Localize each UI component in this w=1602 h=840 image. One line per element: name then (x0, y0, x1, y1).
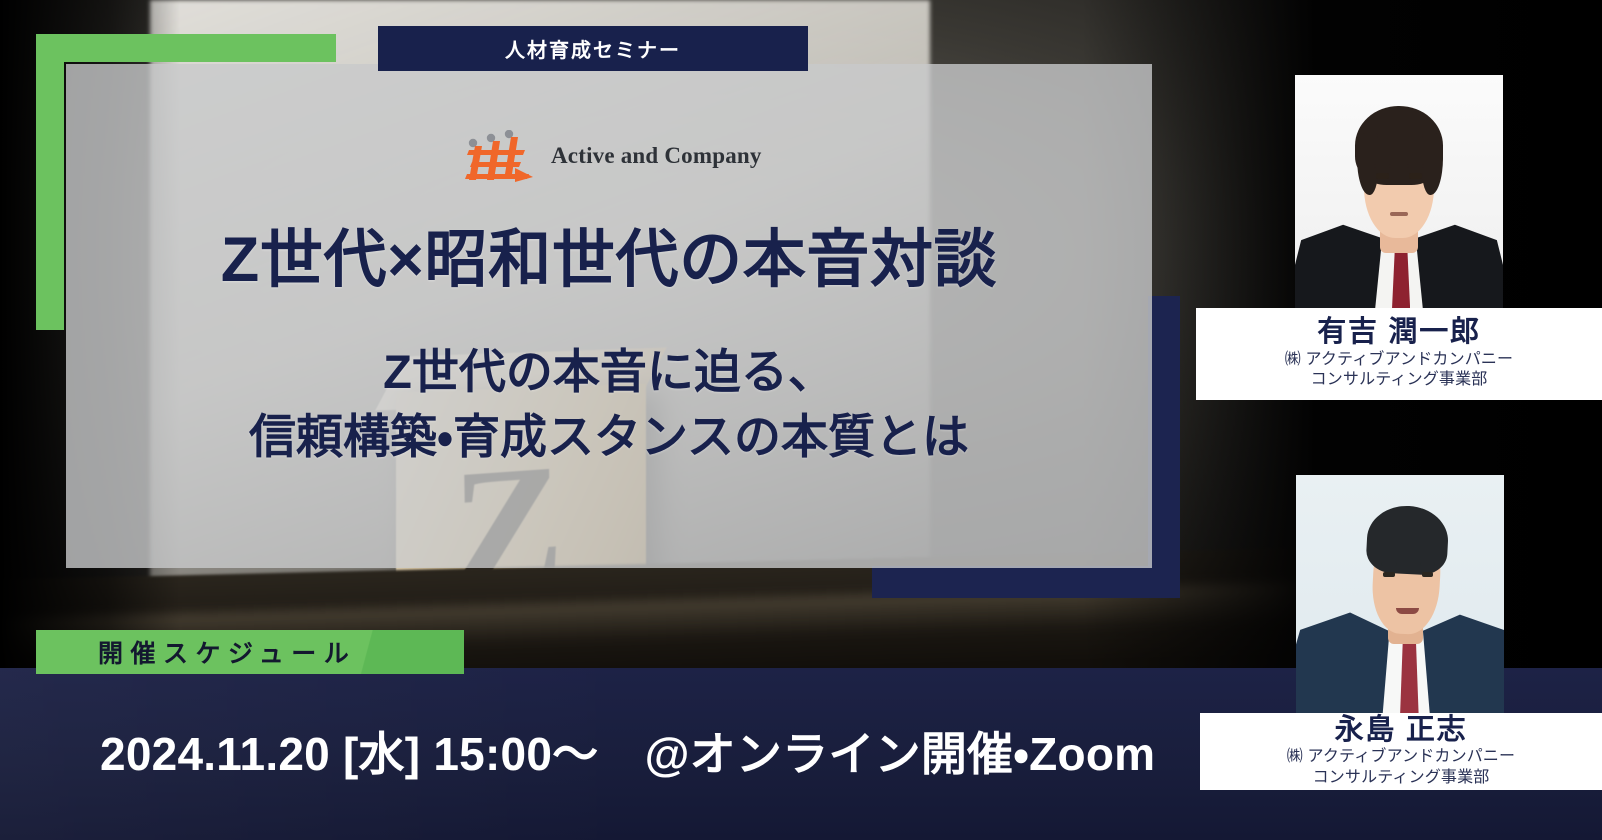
speaker-name-1: 有吉 潤一郎 (1317, 315, 1481, 350)
seminar-category-badge: 人材育成セミナー (378, 26, 808, 71)
green-accent-horizontal (36, 34, 336, 62)
portrait-illustration-1 (1295, 75, 1503, 315)
speaker-org-1: ㈱ アクティブアンドカンパニー (1285, 350, 1513, 370)
schedule-ribbon: 開催スケジュール (36, 630, 464, 674)
company-logo-text: Active and Company (551, 143, 762, 169)
speaker-card-2: 永島 正志 ㈱ アクティブアンドカンパニー コンサルティング事業部 (1200, 475, 1602, 790)
speaker-name-plate-2: 永島 正志 ㈱ アクティブアンドカンパニー コンサルティング事業部 (1200, 713, 1602, 790)
speaker-name-plate-1: 有吉 潤一郎 ㈱ アクティブアンドカンパニー コンサルティング事業部 (1196, 308, 1602, 400)
speaker-dept-1: コンサルティング事業部 (1311, 370, 1488, 390)
speaker-org-2: ㈱ アクティブアンドカンパニー (1287, 747, 1515, 767)
company-logo: Active and Company (463, 130, 762, 182)
navy-accent-vertical (1148, 296, 1180, 598)
speaker-photo-nagashima (1296, 475, 1504, 717)
green-accent-vertical (36, 34, 64, 330)
main-title: Z世代×昭和世代の本音対談 (66, 226, 1152, 294)
speaker-dept-2: コンサルティング事業部 (1313, 768, 1490, 788)
speaker-name-2: 永島 正志 (1335, 713, 1468, 748)
navy-accent-horizontal (872, 566, 1180, 598)
portrait-illustration-2 (1296, 475, 1504, 717)
sub-title-line-2: 信頼構築・育成スタンスの本質とは (66, 405, 1152, 470)
schedule-date-line: 2024.11.20 [水] 15:00〜 @オンライン開催・Zoom (100, 718, 1155, 784)
speaker-photo-ariyoshi (1295, 75, 1503, 315)
sub-title-line-1: Z世代の本音に迫る、 (66, 340, 1152, 405)
active-and-company-logo-icon (463, 130, 537, 182)
sub-title: Z世代の本音に迫る、 信頼構築・育成スタンスの本質とは (66, 340, 1152, 470)
speaker-card-1: 有吉 潤一郎 ㈱ アクティブアンドカンパニー コンサルティング事業部 (1196, 75, 1602, 400)
seminar-banner: Z 人材育成セミナー Active and C (0, 0, 1602, 840)
